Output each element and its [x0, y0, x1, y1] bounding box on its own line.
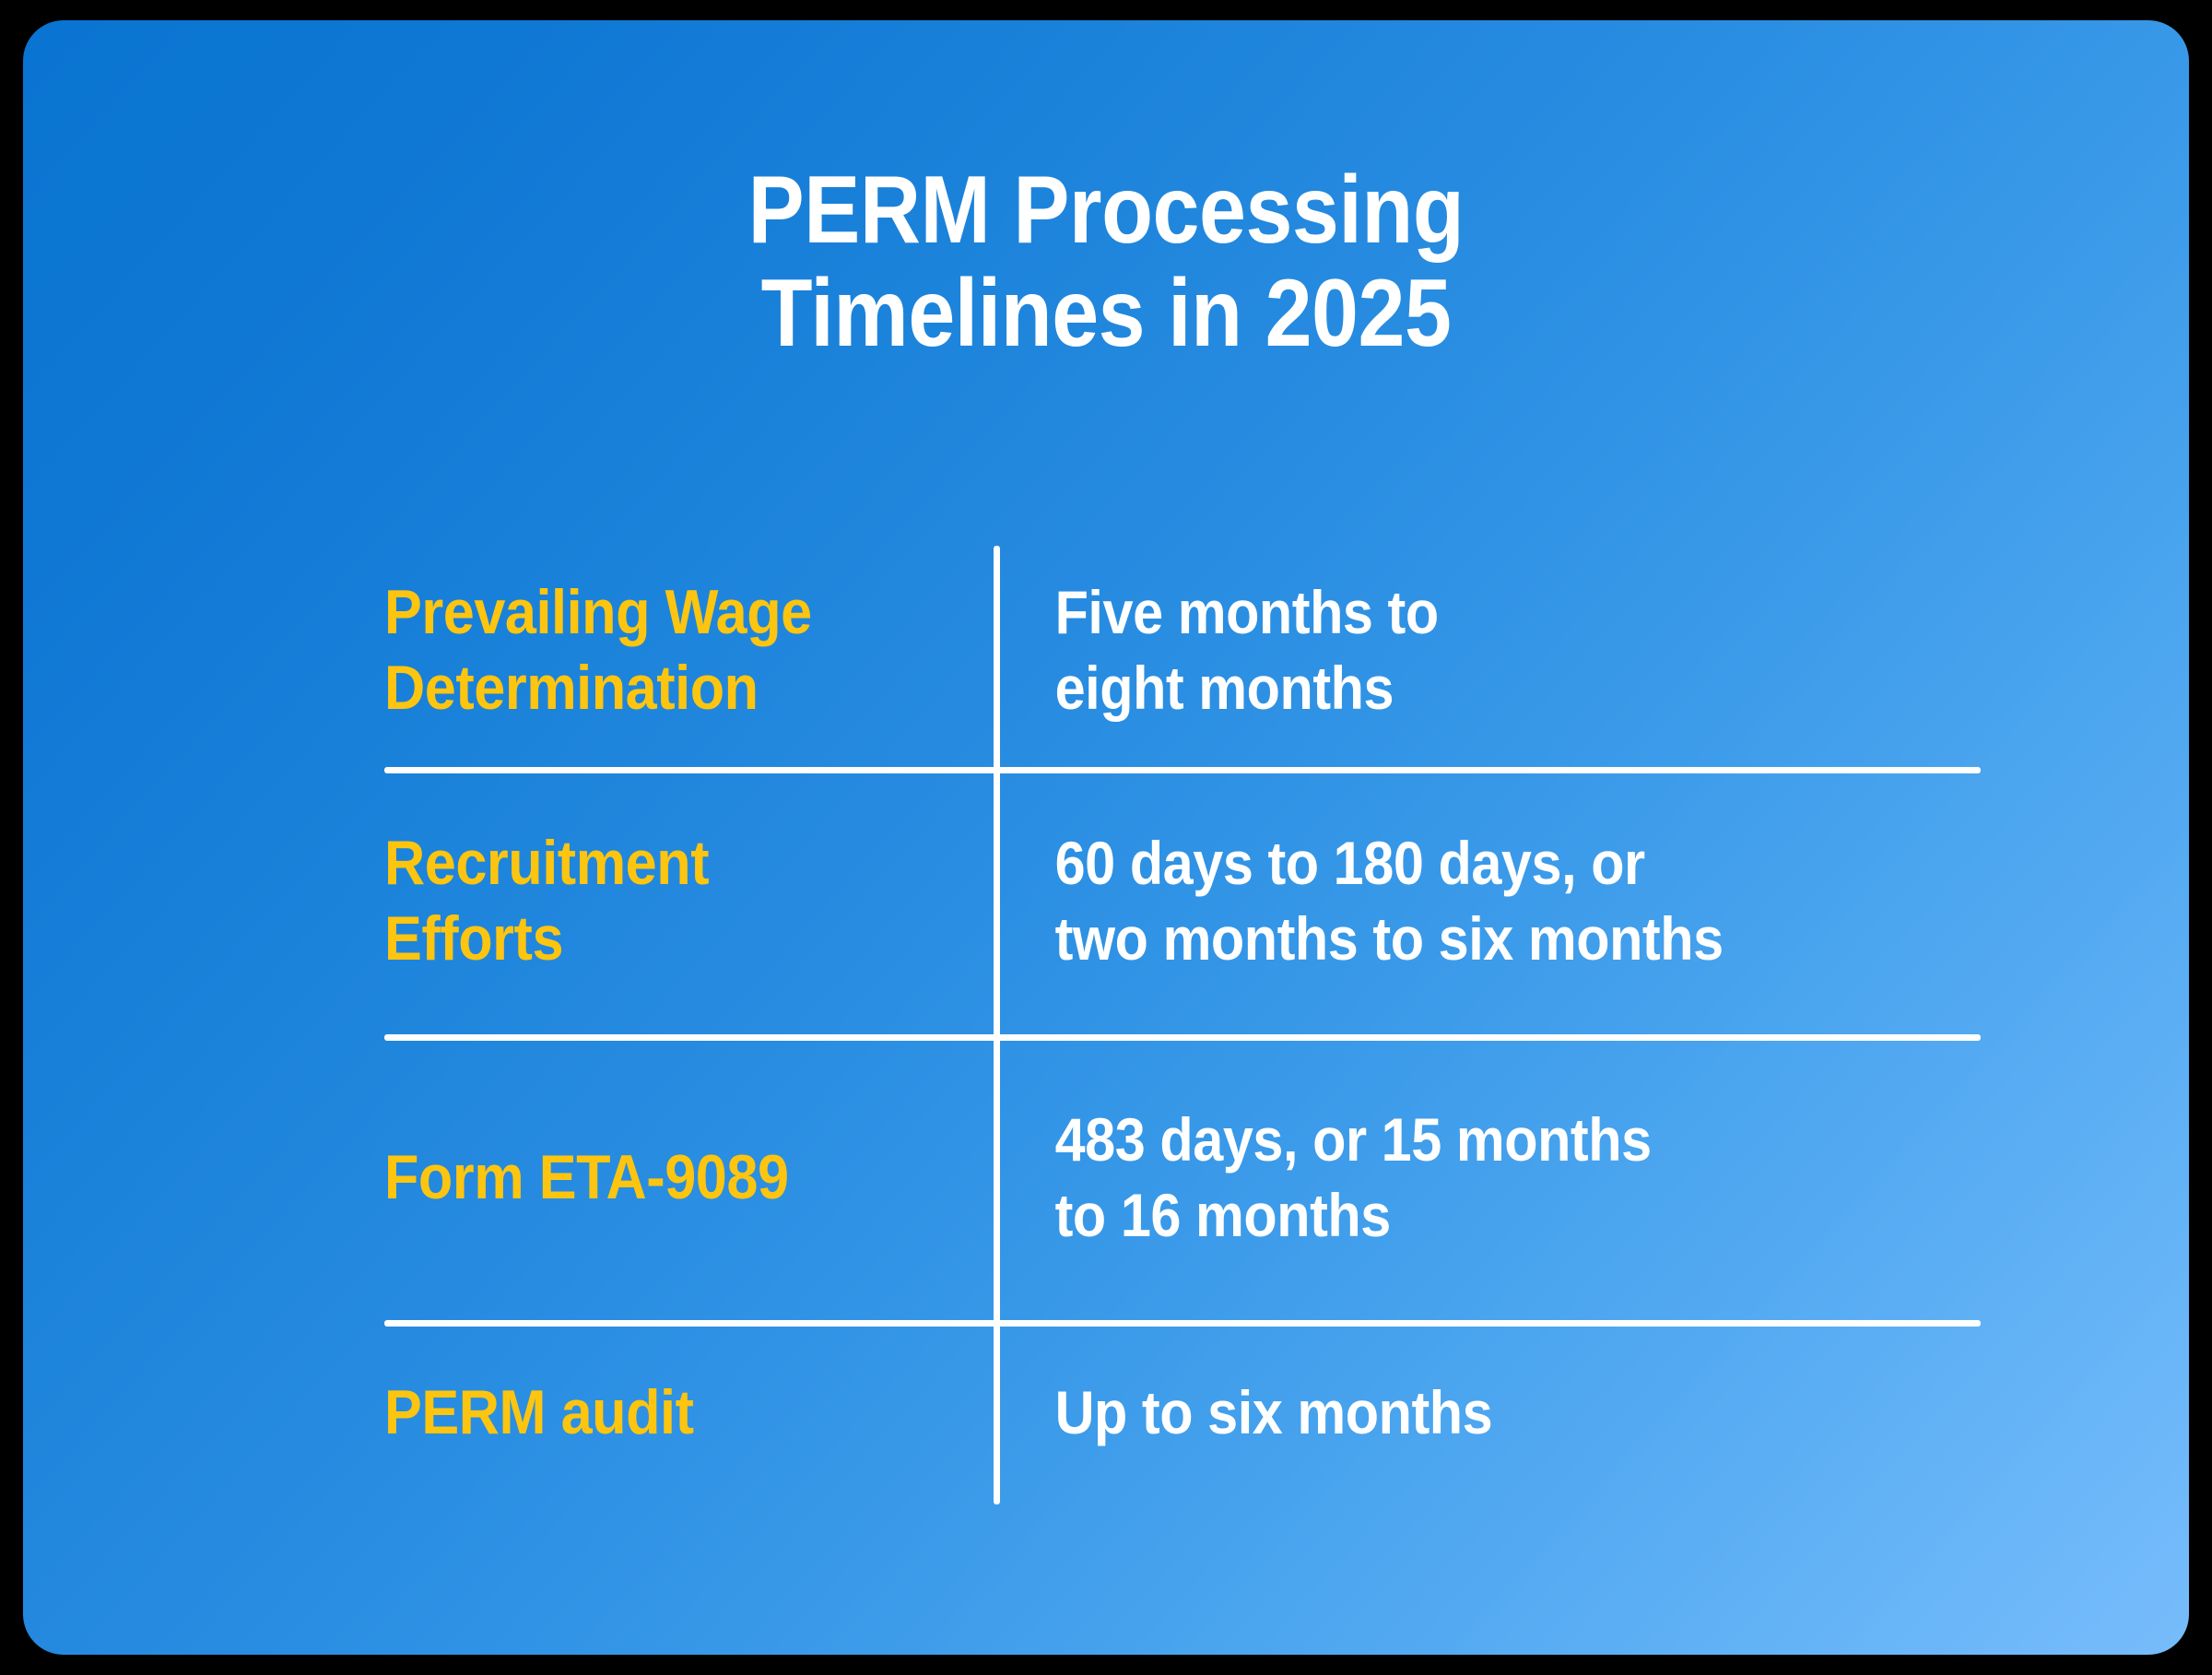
table-cell-value-line-1: 60 days to 180 days, or [1055, 825, 1882, 901]
table-row: Prevailing Wage Determination Five month… [384, 532, 1981, 767]
infographic-card: PERM Processing Timelines in 2025 Prevai… [23, 20, 2189, 1655]
row-divider [384, 767, 1981, 773]
table-cell-label-line-1: Recruitment [384, 825, 900, 901]
timeline-table: Prevailing Wage Determination Five month… [384, 532, 1981, 1504]
table-cell-value: 60 days to 180 days, or two months to si… [994, 825, 1882, 976]
table-cell-value-line-2: two months to six months [1055, 901, 1882, 976]
table-cell-value-line-1: Up to six months [1055, 1374, 1882, 1450]
table-cell-value-line-1: 483 days, or 15 months [1055, 1102, 1882, 1177]
table-cell-label-line-2: Efforts [384, 901, 900, 976]
table-cell-value-line-2: to 16 months [1055, 1177, 1882, 1253]
table-cell-label: Form ETA-9089 [384, 1139, 933, 1215]
table-cell-value: 483 days, or 15 months to 16 months [994, 1102, 1882, 1253]
column-divider [994, 546, 1000, 1504]
table-cell-label: PERM audit [384, 1374, 933, 1450]
table-cell-label-line-1: PERM audit [384, 1374, 900, 1450]
table-cell-label: Recruitment Efforts [384, 825, 933, 976]
table-cell-label-line-1: Form ETA-9089 [384, 1139, 900, 1215]
table-cell-value: Five months to eight months [994, 574, 1882, 725]
table-cell-label: Prevailing Wage Determination [384, 574, 933, 725]
row-divider [384, 1320, 1981, 1327]
table-row: Form ETA-9089 483 days, or 15 months to … [384, 1034, 1981, 1320]
page-title: PERM Processing Timelines in 2025 [23, 159, 2189, 365]
table-row: Recruitment Efforts 60 days to 180 days,… [384, 767, 1981, 1034]
table-cell-label-line-1: Prevailing Wage [384, 574, 900, 650]
table-row: PERM audit Up to six months [384, 1320, 1981, 1504]
row-divider [384, 1034, 1981, 1041]
table-cell-label-line-2: Determination [384, 650, 900, 725]
table-cell-value-line-2: eight months [1055, 650, 1882, 725]
table-cell-value: Up to six months [994, 1374, 1882, 1450]
page-title-line-2: Timelines in 2025 [153, 262, 2059, 365]
page-title-line-1: PERM Processing [153, 159, 2059, 262]
table-cell-value-line-1: Five months to [1055, 574, 1882, 650]
